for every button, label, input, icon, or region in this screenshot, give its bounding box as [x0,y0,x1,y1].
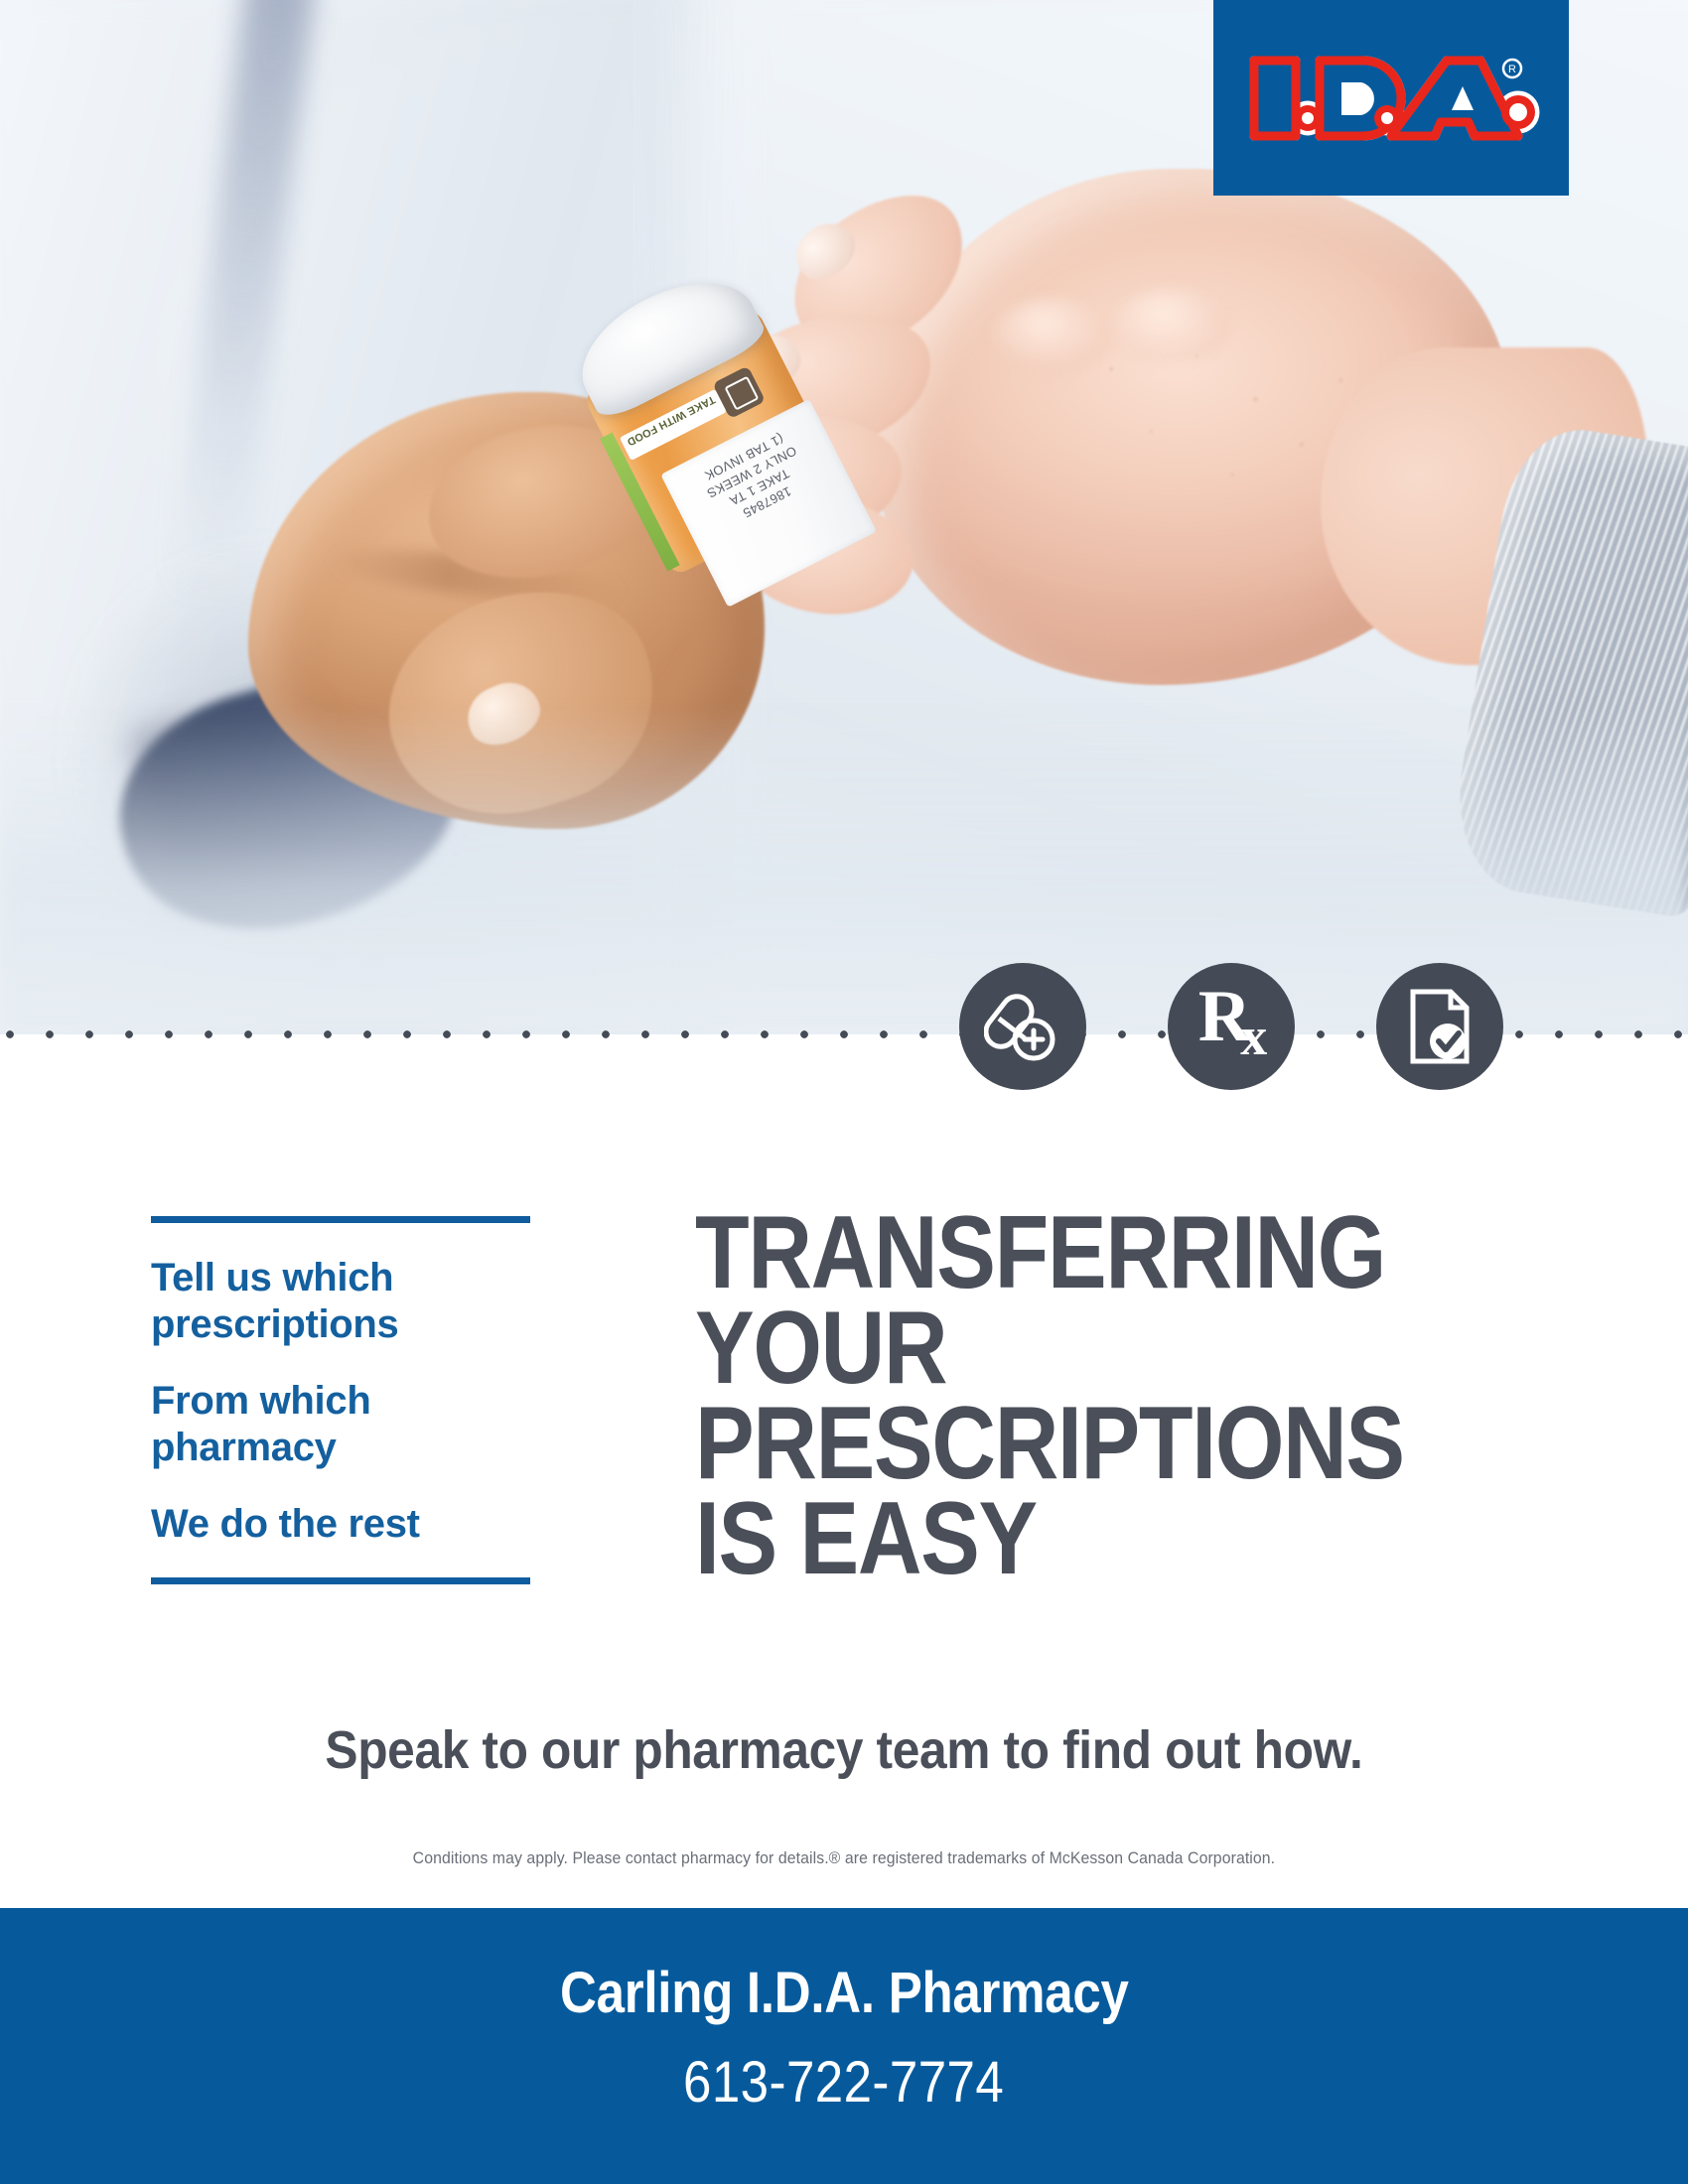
headline-line-4: IS EASY [695,1491,1430,1586]
icon-row: Rx [0,943,1688,1122]
page-title: TRANSFERRING YOUR PRESCRIPTIONS IS EASY [695,1205,1430,1586]
bullet-rule-top [151,1216,530,1223]
rx-icon-circle: Rx [1168,963,1295,1090]
pills-plus-icon-circle [959,963,1086,1090]
pills-plus-icon [984,988,1061,1065]
headline-line-2: YOUR [695,1300,1430,1396]
knuckle [1112,288,1231,363]
document-check-icon [1403,987,1477,1066]
bullet-item-1: Tell us which prescriptions [151,1255,530,1348]
content-area: Tell us which prescriptions From which p… [0,1034,1688,1908]
tagline-text: Speak to our pharmacy team to find out h… [325,1719,1362,1781]
headline-line-1: TRANSFERRING [695,1205,1430,1300]
poster-root: TAKE WITH FOOD 1867845 TAKE 1 TA ONLY 2 … [0,0,1688,2184]
footer-bar: Carling I.D.A. Pharmacy 613-722-7774 [0,1908,1688,2184]
document-check-icon-circle [1376,963,1503,1090]
tagline: Speak to our pharmacy team to find out h… [0,1719,1688,1781]
disclaimer: Conditions may apply. Please contact pha… [0,1848,1688,1868]
svg-text:R: R [1508,64,1516,75]
pharmacy-phone[interactable]: 613-722-7774 [0,2049,1688,2116]
bullet-list: Tell us which prescriptions From which p… [151,1216,530,1584]
bullet-item-3: We do the rest [151,1501,530,1548]
pharmacy-phone-text[interactable]: 613-722-7774 [683,2049,1004,2116]
pharmacy-name-text: Carling I.D.A. Pharmacy [560,1960,1129,2026]
knuckle [993,298,1112,373]
ida-logo: R [1213,0,1569,196]
bottle-label-lines: 1867845 TAKE 1 TA ONLY 2 WEEKS (1 TAB IN… [674,416,838,544]
bullet-item-2: From which pharmacy [151,1378,530,1471]
disclaimer-text: Conditions may apply. Please contact pha… [413,1848,1275,1868]
pharmacy-name: Carling I.D.A. Pharmacy [0,1960,1688,2026]
headline-line-3: PRESCRIPTIONS [695,1396,1430,1491]
bullet-rule-bottom [151,1577,530,1584]
ida-logo-art: R [1242,47,1540,150]
rx-icon: Rx [1198,980,1264,1073]
